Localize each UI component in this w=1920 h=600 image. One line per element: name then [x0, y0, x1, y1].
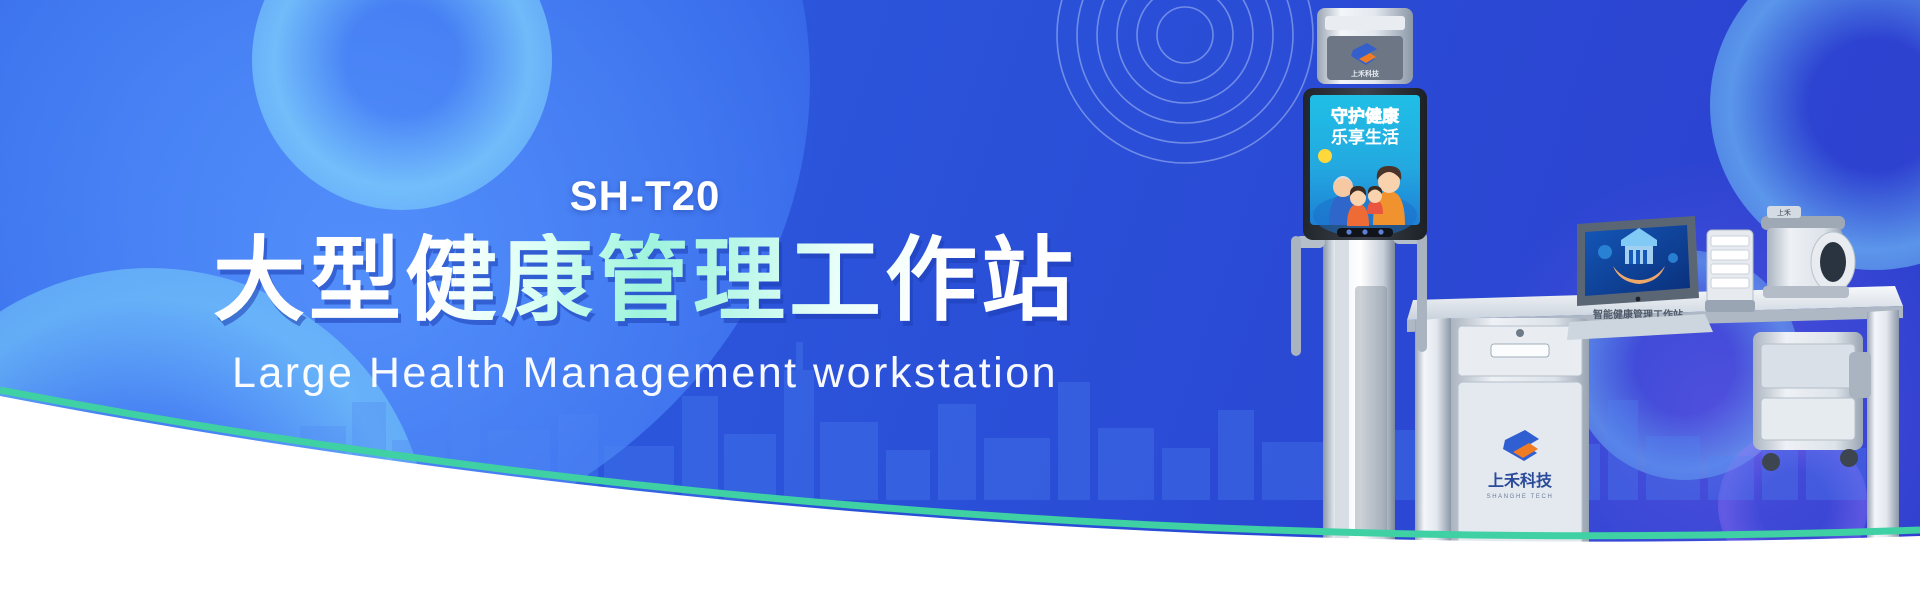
banner-copy: SH-T20 大型健康管理工作站 Large Health Management… — [0, 0, 1290, 600]
page-title: 大型健康管理工作站 — [213, 233, 1077, 331]
subtitle-english: Large Health Management workstation — [232, 352, 1058, 395]
product-banner: 上禾科技 SHANGHE TECH 守护健 — [0, 0, 1920, 600]
svg-text:守护健康: 守护健康 — [1331, 106, 1400, 127]
svg-text:上禾科技: 上禾科技 — [1351, 69, 1380, 78]
svg-text:乐享生活: 乐享生活 — [1331, 127, 1399, 148]
model-code: SH-T20 — [570, 175, 721, 217]
blood-pressure-arm-module: 上禾 — [1761, 206, 1855, 298]
svg-text:上禾: 上禾 — [1777, 208, 1791, 217]
